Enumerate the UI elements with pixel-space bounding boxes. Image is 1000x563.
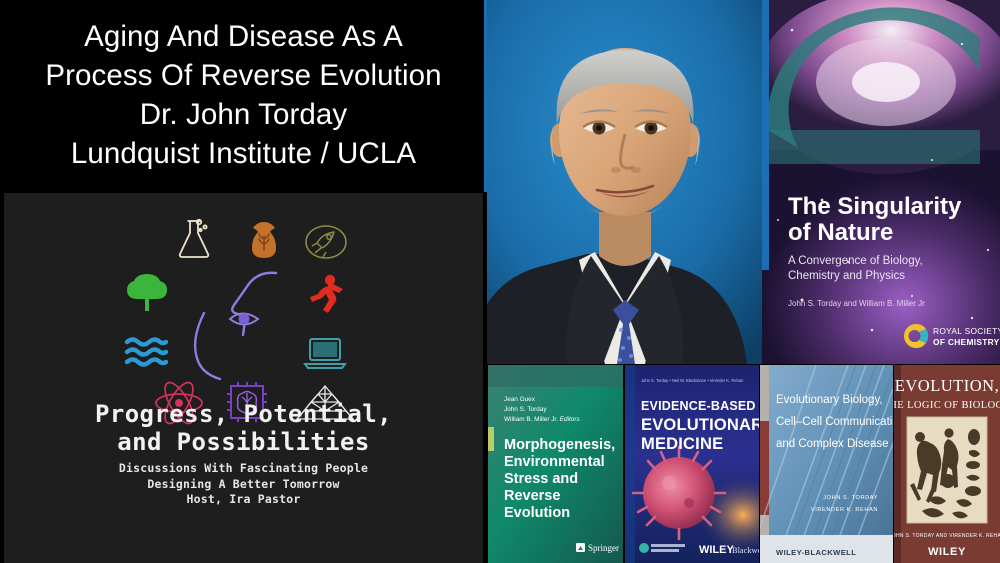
svg-text:Springer: Springer: [588, 543, 619, 553]
right-column: The Singularity of Nature A Convergence …: [487, 0, 1000, 563]
book-cover-singularity-of-nature: The Singularity of Nature A Convergence …: [762, 0, 1000, 364]
svg-text:Evolutionary Biology,: Evolutionary Biology,: [776, 394, 883, 406]
svg-text:The Singularity: The Singularity: [788, 193, 962, 220]
svg-text:EVOLUTION,: EVOLUTION,: [895, 376, 999, 395]
tree-icon: [124, 271, 170, 318]
svg-text:John S. Torday • Neil W. Black: John S. Torday • Neil W. Blackstone • Vi…: [641, 378, 744, 383]
water-waves-icon: [124, 335, 170, 380]
face-profile-eye-icon: [180, 267, 315, 395]
title-line-3: Dr. John Torday: [45, 96, 441, 135]
svg-text:VIRENDER K. REHAN: VIRENDER K. REHAN: [811, 507, 878, 513]
tagline-line-3: Host, Ira Pastor: [4, 492, 483, 508]
svg-text:ROYAL SOCIETY: ROYAL SOCIETY: [933, 326, 1000, 336]
brand-title-line-1: Progress, Potential,: [4, 401, 483, 429]
brand-tagline: Discussions With Fascinating People Desi…: [4, 461, 483, 508]
title-line-1: Aging And Disease As A: [45, 18, 441, 57]
svg-text:A Convergence of Biology,: A Convergence of Biology,: [788, 255, 923, 267]
svg-text:JOHN S. TORDAY: JOHN S. TORDAY: [823, 495, 878, 501]
svg-text:WILEY: WILEY: [928, 546, 966, 558]
svg-text:John S. Torday: John S. Torday: [504, 406, 547, 413]
title-line-2: Process Of Reverse Evolution: [45, 57, 441, 96]
book-cover-cell-cell-communication: Evolutionary Biology, Cell–Cell Communic…: [760, 365, 893, 563]
svg-text:JOHN S. TORDAY AND VIRENDER K.: JOHN S. TORDAY AND VIRENDER K. REHAN: [894, 533, 1000, 539]
title-line-4: Lundquist Institute / UCLA: [45, 135, 441, 174]
rocket-oval-icon: [304, 223, 348, 266]
svg-text:and Complex Disease: and Complex Disease: [776, 438, 889, 450]
svg-text:Evolution: Evolution: [504, 505, 570, 521]
svg-text:Stress and: Stress and: [504, 471, 578, 487]
book-cover-evolution-logic-of-biology: EVOLUTION, THE LOGIC OF BIOLOGY: [894, 365, 1000, 563]
speaker-portrait: [487, 0, 762, 364]
svg-text:Morphogenesis,: Morphogenesis,: [504, 437, 615, 453]
grain-sack-icon: [242, 219, 286, 266]
flask-icon: [174, 215, 214, 266]
book-cover-morphogenesis: Jean Guex John S. Torday William B. Mill…: [488, 365, 623, 563]
podcast-branding-panel: Progress, Potential, and Possibilities D…: [4, 193, 483, 563]
svg-text:Blackwell: Blackwell: [732, 546, 759, 555]
svg-text:OF CHEMISTRY: OF CHEMISTRY: [933, 337, 1000, 347]
svg-text:Jean Guex: Jean Guex: [504, 396, 536, 403]
svg-text:EVOLUTIONARY: EVOLUTIONARY: [641, 416, 759, 434]
svg-text:William B. Miller Jr. Editor: William B. Miller Jr. Editors: [504, 416, 580, 423]
brand-wordmark: Progress, Potential, and Possibilities: [4, 401, 483, 457]
tagline-line-1: Discussions With Fascinating People: [4, 461, 483, 477]
svg-text:Chemistry and Physics: Chemistry and Physics: [788, 270, 905, 282]
svg-text:John S. Torday and William B.: John S. Torday and William B. Miller Jr: [788, 299, 925, 308]
svg-text:of Nature: of Nature: [788, 219, 893, 246]
svg-text:WILEY-BLACKWELL: WILEY-BLACKWELL: [776, 548, 856, 557]
svg-text:Reverse: Reverse: [504, 488, 560, 504]
svg-text:WILEY: WILEY: [699, 544, 734, 556]
left-column: Aging And Disease As A Process Of Revers…: [0, 0, 487, 563]
title-panel: Aging And Disease As A Process Of Revers…: [0, 0, 487, 192]
book-cover-evidence-based-evolutionary-medicine: John S. Torday • Neil W. Blackstone • Vi…: [625, 365, 759, 563]
icon-cluster: [4, 211, 483, 401]
svg-text:THE LOGIC OF BIOLOGY: THE LOGIC OF BIOLOGY: [894, 400, 1000, 411]
svg-text:MEDICINE: MEDICINE: [641, 435, 723, 453]
svg-text:EVIDENCE-BASED: EVIDENCE-BASED: [641, 399, 756, 413]
svg-text:Cell–Cell Communication,: Cell–Cell Communication,: [776, 416, 893, 428]
page-title: Aging And Disease As A Process Of Revers…: [39, 18, 447, 174]
brand-title-line-2: and Possibilities: [4, 429, 483, 457]
presentation-slide: Aging And Disease As A Process Of Revers…: [0, 0, 1000, 563]
svg-text:Environmental: Environmental: [504, 454, 605, 470]
tagline-line-2: Designing A Better Tomorrow: [4, 477, 483, 493]
